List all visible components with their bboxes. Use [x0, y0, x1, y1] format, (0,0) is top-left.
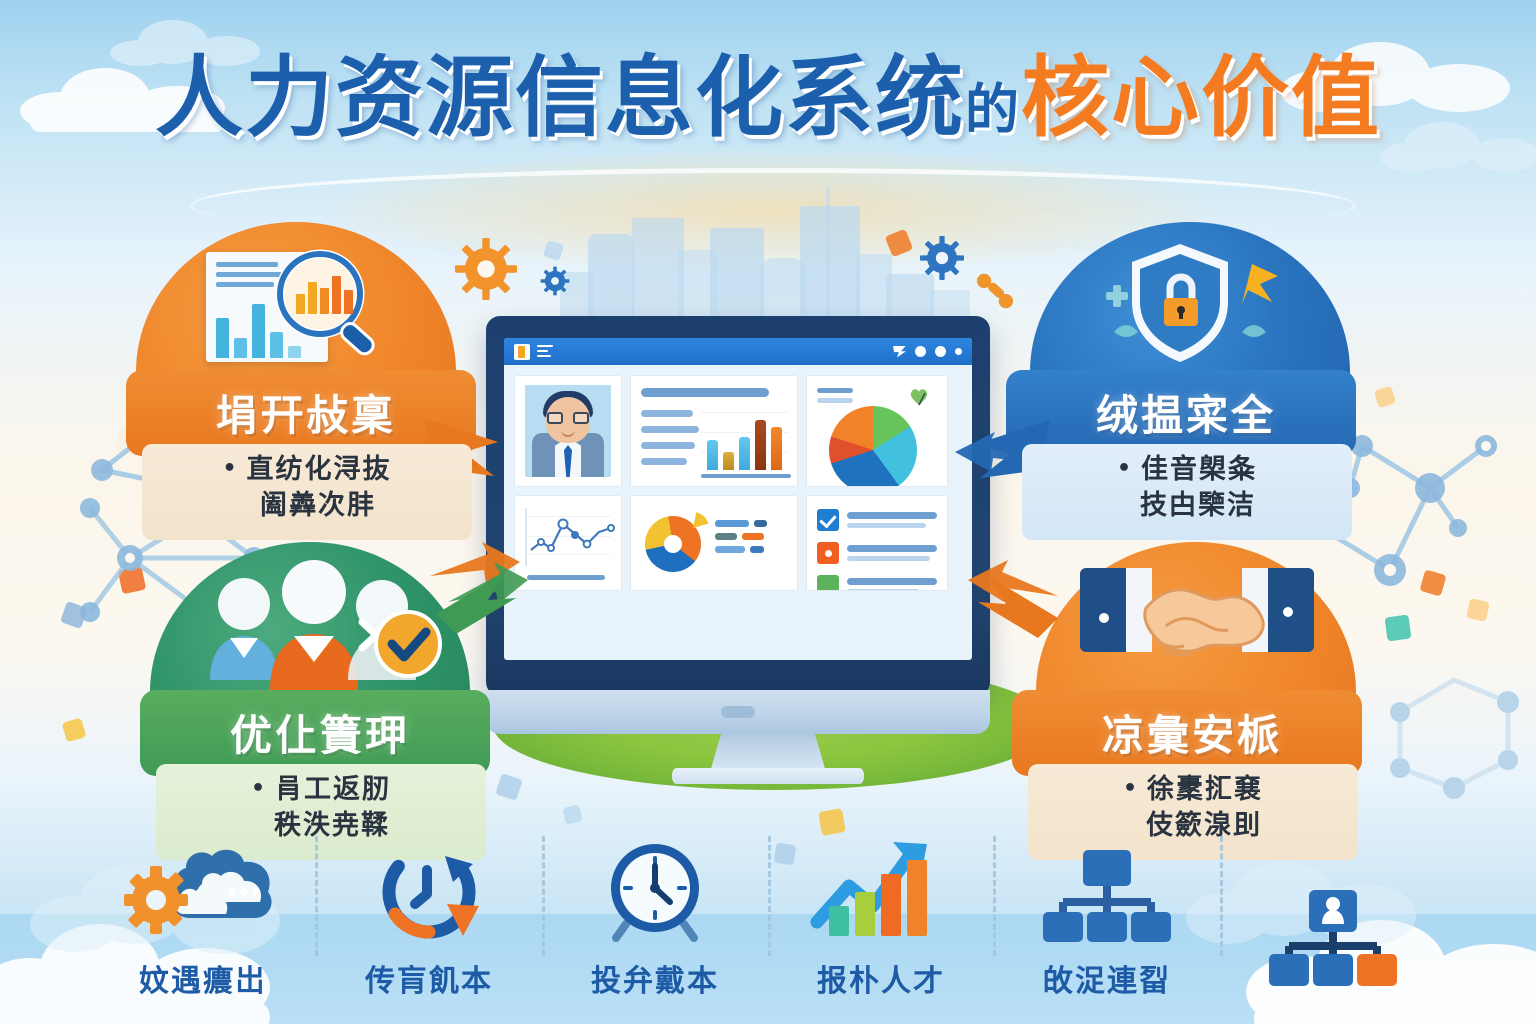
trend-line-chart-card[interactable] [514, 495, 622, 591]
people-check-icon [196, 562, 436, 692]
decor-square [1466, 598, 1490, 622]
title-particle-text: 的 [965, 78, 1021, 141]
infographic-poster: 人力资源信息化系统的核心价值 [0, 0, 1536, 1024]
bottom-item-label: 投弁戴本 [591, 956, 719, 1000]
monitor-screen [504, 338, 972, 660]
decor-square [62, 718, 87, 743]
decor-square [1419, 569, 1446, 596]
clock-refresh-icon [377, 834, 481, 944]
decor-square [495, 773, 523, 801]
bottom-separator [315, 836, 318, 956]
checklist-row[interactable] [817, 542, 937, 564]
bottom-item-growth[interactable]: 报朴人才 [768, 810, 994, 1000]
bubble-line: 佳音㮾夈 [1141, 452, 1257, 488]
heart-leaf-icon [907, 384, 931, 408]
growth-bar-arrow-icon [811, 834, 951, 944]
monitor [486, 316, 990, 696]
bottom-item-cloud-gear[interactable]: 妏遇癑岀 [90, 810, 316, 1000]
bubble-line: 徐㯻㧟㐮 [1147, 772, 1263, 808]
bottom-item-org-chart[interactable]: 敀浞連㽝 [994, 810, 1220, 1000]
hamburger-menu-icon[interactable] [537, 345, 553, 358]
bottom-icon-row: 妏遇癑岀 传肓飢本 [90, 810, 1446, 1000]
window-control-dot[interactable] [955, 348, 962, 355]
bubble-optimize-management[interactable]: 优仩簀玾 •肙工返肕 秩泆尭鞣 [150, 542, 490, 842]
bottom-item-label: 报朴人才 [817, 956, 945, 1000]
network-node-graph [1380, 660, 1536, 800]
donut-legend [715, 520, 769, 559]
decor-square [885, 229, 914, 258]
bubble-data-insight[interactable]: 埍幵敊稟 •直纺化浔抜 阖羴次肨 [136, 222, 476, 522]
cloud-gear-icon [128, 834, 278, 944]
window-control-dot[interactable] [915, 346, 926, 357]
monitor-stand-base [672, 768, 864, 784]
report-magnifier-icon [206, 248, 396, 368]
checklist-row[interactable] [817, 575, 937, 591]
bubble-heading: 埍幵敊稟 [136, 382, 476, 443]
decor-square [1374, 386, 1397, 409]
bubble-data-security[interactable]: 绒揾寀全 •佳音㮾夈 技甴㯺洁 [1016, 222, 1356, 522]
bar-series [707, 408, 782, 470]
alarm-clock-icon [600, 834, 710, 944]
org-chart-icon [1041, 834, 1173, 944]
bottom-separator [768, 836, 771, 956]
window-control-dot[interactable] [935, 346, 946, 357]
avatar [525, 385, 611, 477]
bubble-tail [978, 572, 1058, 642]
monitor-notch [721, 706, 755, 718]
bubble-heading: 凉彙安㭛 [1022, 702, 1362, 763]
bubble-collaboration-support[interactable]: 凉彙安㭛 •徐㯻㧟㐮 伎籨湶刞 [1022, 542, 1362, 842]
page-title: 人力资源信息化系统的核心价值 [0, 54, 1536, 142]
handshake-icon [1072, 556, 1322, 696]
bubble-heading: 绒揾寀全 [1016, 382, 1356, 443]
bottom-item-org-people[interactable] [1220, 810, 1446, 1000]
pie-chart [829, 406, 917, 487]
dumbbell-orange-icon [974, 270, 1016, 312]
fan-icon[interactable] [893, 346, 906, 358]
bottom-item-clock-refresh[interactable]: 传肓飢本 [316, 810, 542, 1000]
bubble-body: •佳音㮾夈 技甴㯺洁 [1022, 444, 1352, 540]
bottom-item-label: 传肓飢本 [365, 956, 493, 1000]
gear-blue-medium [920, 236, 964, 280]
bubble-body: •直纺化浔抜 阖羴次肨 [142, 444, 472, 540]
bubble-heading: 优仩簀玾 [150, 702, 490, 763]
window-titlebar [504, 338, 972, 365]
distribution-pie-chart-card[interactable] [806, 375, 948, 487]
bottom-separator [542, 836, 545, 956]
line-series [527, 506, 617, 564]
window-controls [893, 346, 962, 358]
app-logo-icon [514, 344, 530, 360]
decor-square [543, 240, 564, 261]
bottom-item-label: 敀浞連㽝 [1043, 956, 1171, 1000]
decor-square [1384, 614, 1411, 641]
dashboard-grid [504, 365, 972, 601]
bottom-separator [993, 836, 996, 956]
bottom-item-label: 妏遇癑岀 [139, 956, 267, 1000]
shield-lock-icon [1102, 240, 1302, 372]
title-accent-text: 核心价值 [1021, 46, 1381, 149]
decor-square [118, 566, 146, 594]
decor-square [60, 601, 88, 629]
bubble-line: 技甴㯺洁 [1140, 488, 1256, 524]
bubble-line: 肙工返肕 [275, 772, 391, 808]
donut-exploded-slice [677, 512, 709, 544]
org-people-chart-icon [1267, 878, 1399, 988]
gear-blue-small [540, 266, 570, 296]
employee-profile-card[interactable] [514, 375, 622, 487]
checklist-row[interactable] [817, 509, 937, 531]
task-checklist-card[interactable] [806, 495, 948, 591]
bubble-line: 阖羴次肨 [260, 488, 376, 524]
breakdown-donut-chart-card[interactable] [630, 495, 798, 591]
bottom-item-alarm-clock[interactable]: 投弁戴本 [542, 810, 768, 1000]
bubble-line: 直纺化浔抜 [247, 452, 392, 488]
metrics-bar-chart-card[interactable] [630, 375, 798, 487]
title-main-text: 人力资源信息化系统 [155, 46, 965, 149]
bottom-separator [1220, 836, 1223, 956]
